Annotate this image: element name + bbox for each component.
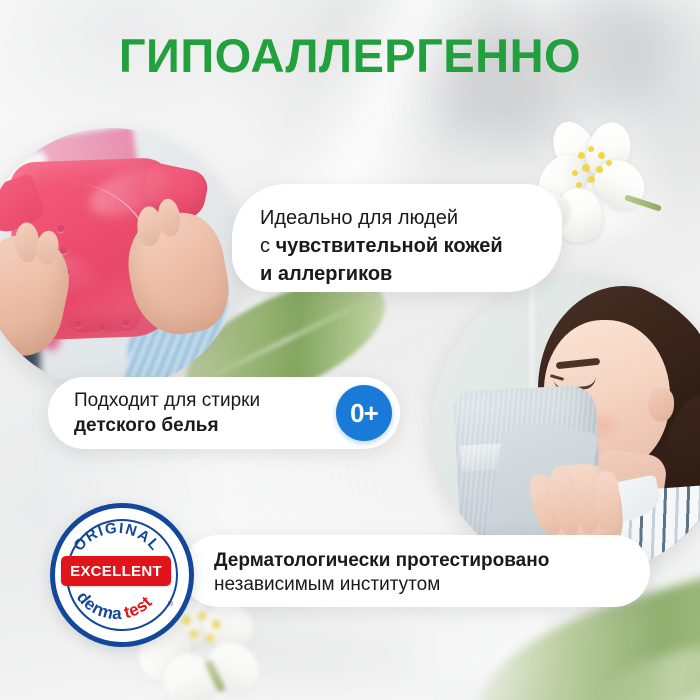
svg-text:derma: derma — [73, 588, 122, 624]
bubble2-line1: Подходит для стирки — [74, 390, 260, 411]
svg-text:ORIGINAL: ORIGINAL — [70, 520, 163, 555]
bubble-dermatologically-tested: Дерматологически протестировано независи… — [182, 535, 650, 607]
stamen — [182, 616, 191, 625]
bubble3-line1-bold: Дерматологически протестировано — [214, 550, 549, 571]
bubble-sensitive-skin-text: Идеально для людей с чувствительной коже… — [260, 204, 548, 288]
bodysuit-hem — [66, 308, 141, 333]
stamen — [576, 182, 582, 188]
bubble1-line3-bold: и аллергиков — [260, 263, 392, 285]
stamen — [606, 160, 612, 166]
age-badge-0plus: 0+ — [336, 385, 392, 441]
photo-woman-towel — [432, 276, 700, 576]
dermatest-seal: ORIGINAL derma test EXCELLENT ® — [50, 503, 194, 647]
bubble-sensitive-skin: Идеально для людей с чувствительной коже… — [232, 184, 562, 292]
stamen — [212, 620, 221, 629]
seal-registered-mark: ® — [168, 601, 173, 608]
stamen — [598, 152, 605, 159]
bubble-baby-laundry: Подходит для стирки детского белья 0+ — [48, 377, 400, 449]
page-title: ГИПОАЛЛЕРГЕННО — [0, 32, 700, 79]
bubble1-line2-bold: чувствительной кожей — [276, 235, 503, 257]
stamen — [588, 176, 595, 183]
seal-band-text: EXCELLENT — [70, 563, 162, 580]
bubble3-line2: независимым институтом — [214, 574, 440, 595]
woman-ear — [648, 388, 674, 422]
finger — [594, 471, 619, 529]
seal-top-text: ORIGINAL — [70, 520, 163, 555]
bubble-dermatologically-tested-text: Дерматологически протестировано независи… — [214, 549, 634, 597]
stamen — [190, 630, 198, 638]
poster: ГИПОАЛЛЕРГЕННО — [0, 0, 700, 700]
seal-brand-first: derma — [73, 588, 122, 624]
bubble1-line1: Идеально для людей — [260, 207, 458, 229]
stamen — [198, 612, 206, 620]
bubble1-line2-prefix: с — [260, 235, 276, 257]
bubble-baby-laundry-text: Подходит для стирки детского белья — [74, 388, 336, 438]
bubble2-line2-bold: детского белья — [74, 415, 219, 436]
stamen — [572, 170, 578, 176]
stamen — [588, 146, 594, 152]
stamen — [578, 152, 585, 159]
stamen — [206, 634, 214, 642]
seal-excellent-band: EXCELLENT — [61, 556, 171, 586]
svg-text:test: test — [122, 592, 156, 622]
stamen — [582, 164, 590, 172]
stamen — [596, 166, 603, 173]
seal-brand-second: test — [122, 592, 156, 622]
